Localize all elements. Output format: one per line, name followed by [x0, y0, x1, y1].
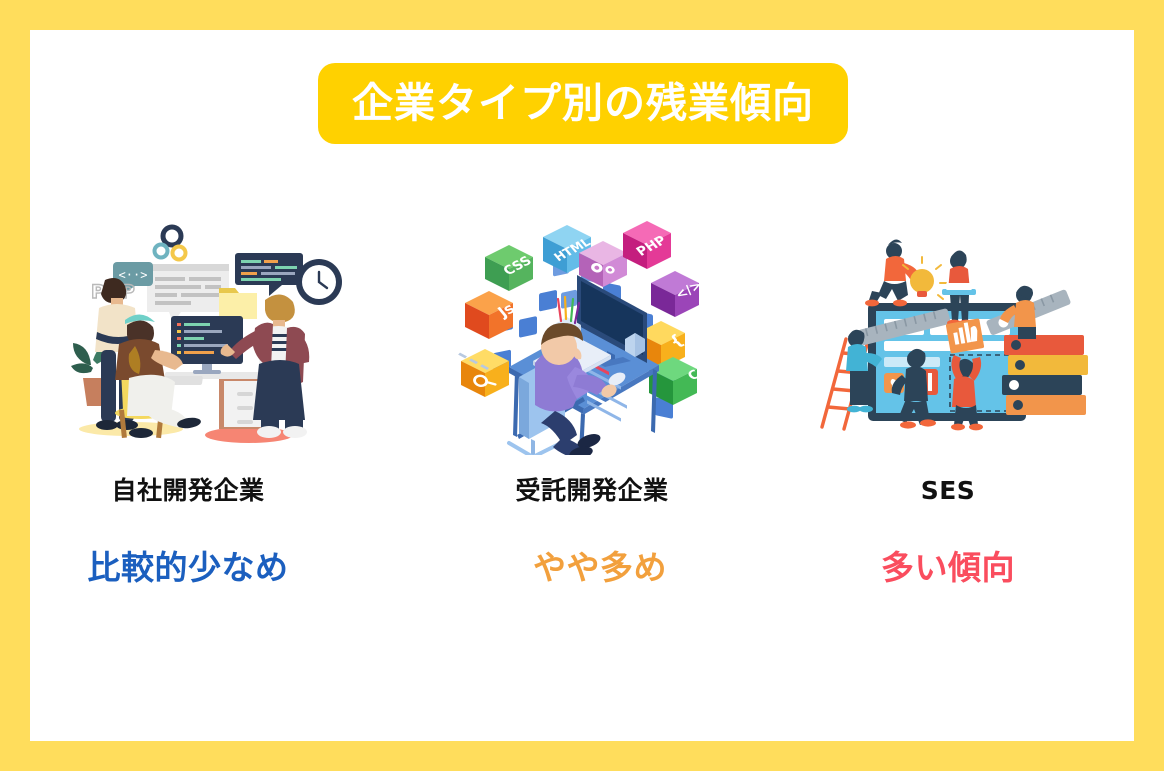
content-canvas: 企業タイプ別の残業傾向	[30, 30, 1134, 741]
column-ses: SES 多い傾向	[766, 210, 1134, 584]
trend-value-ses: 多い傾向	[881, 551, 1015, 584]
svg-text:<··>: <··>	[119, 268, 148, 282]
category-label-contract: 受託開発企業	[515, 478, 668, 503]
column-in-house: <··> PHP	[30, 210, 398, 584]
page-frame: 企業タイプ別の残業傾向	[0, 0, 1164, 771]
page-title-badge: 企業タイプ別の残業傾向	[318, 63, 848, 144]
team-building-website-illustration	[800, 210, 1100, 460]
team-at-desk-illustration: <··> PHP	[64, 210, 364, 460]
category-label-in-house: 自社開発企業	[111, 478, 264, 503]
trend-value-contract: やや多め	[533, 551, 667, 584]
column-contract: CSS HTML	[398, 210, 766, 584]
page-title: 企業タイプ別の残業傾向	[352, 83, 814, 124]
category-label-ses: SES	[921, 478, 976, 503]
trend-value-in-house: 比較的少なめ	[88, 551, 289, 584]
developer-isometric-illustration: CSS HTML	[432, 210, 732, 460]
comparison-columns: <··> PHP	[30, 210, 1134, 584]
